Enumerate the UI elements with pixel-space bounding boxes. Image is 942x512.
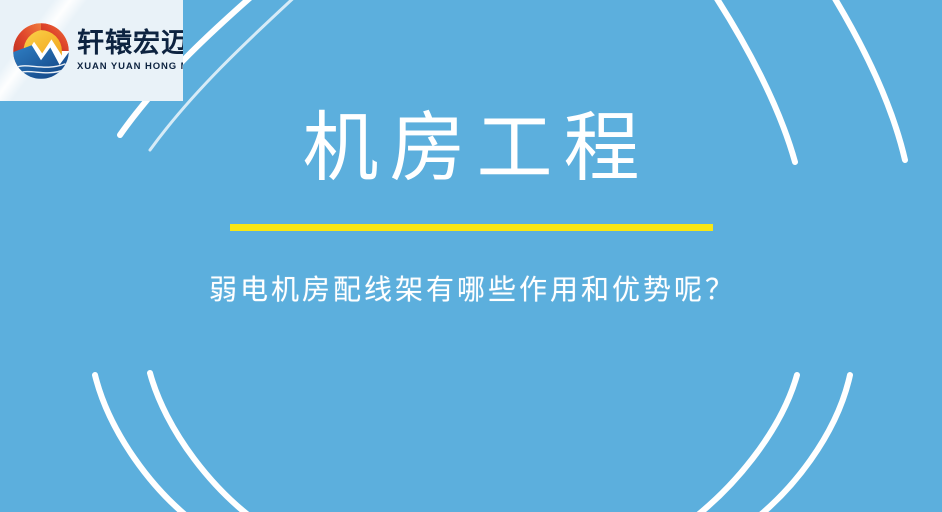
headline-block: 机房工程 弱电机房配线架有哪些作用和优势呢？ — [0, 0, 942, 512]
slide-canvas: 轩辕宏迈 XUAN YUAN HONG MAI 机房工程 弱电机房配线架有哪些作… — [0, 0, 942, 512]
page-title: 机房工程 — [292, 108, 651, 188]
page-subtitle: 弱电机房配线架有哪些作用和优势呢？ — [206, 273, 736, 307]
title-divider — [230, 224, 713, 231]
